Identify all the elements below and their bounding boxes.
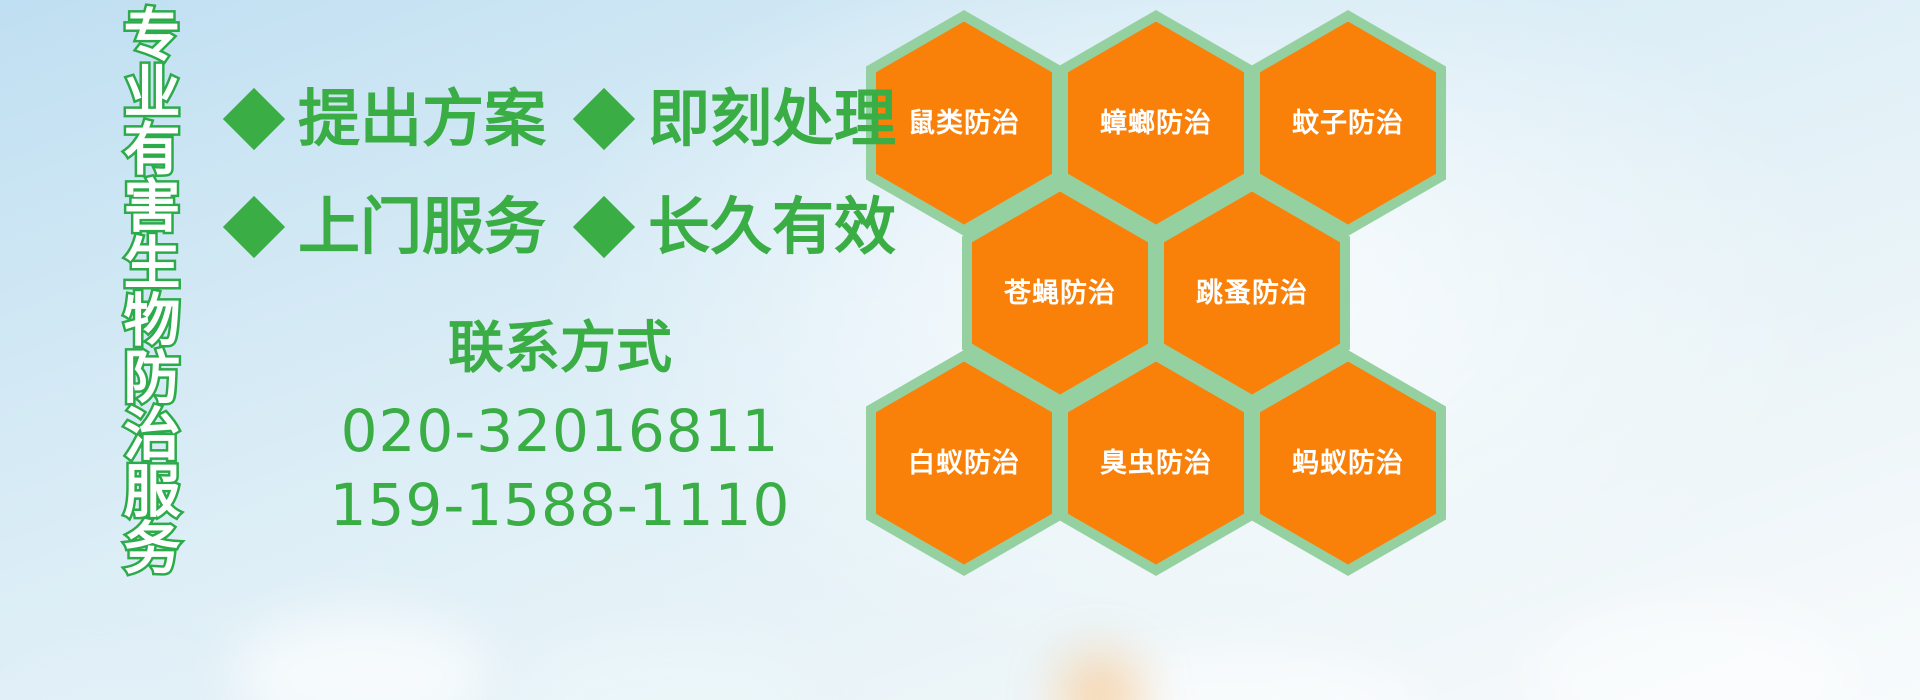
hexagon-inner: 白蚁防治 bbox=[876, 362, 1052, 565]
service-label: 蟑螂防治 bbox=[1100, 110, 1212, 137]
service-label: 臭虫防治 bbox=[1100, 450, 1212, 477]
vertical-headline-char: 防 bbox=[124, 350, 181, 407]
feature-label: 长久有效 bbox=[648, 196, 896, 258]
feature-item-long-lasting: 长久有效 bbox=[582, 196, 896, 258]
vertical-headline-char: 有 bbox=[124, 122, 181, 179]
service-label: 蚊子防治 bbox=[1292, 110, 1404, 137]
background-bokeh-blob bbox=[1530, 600, 1860, 700]
vertical-headline-char: 害 bbox=[124, 179, 181, 236]
feature-row-1: 提出方案 即刻处理 bbox=[232, 88, 896, 150]
background-bokeh-blob bbox=[1040, 648, 1420, 700]
diamond-icon bbox=[573, 196, 635, 258]
service-label: 蚂蚁防治 bbox=[1292, 450, 1404, 477]
service-label: 白蚁防治 bbox=[908, 450, 1020, 477]
feature-item-propose-plan: 提出方案 bbox=[232, 88, 546, 150]
feature-label: 提出方案 bbox=[298, 88, 546, 150]
diamond-icon bbox=[573, 88, 635, 150]
diamond-icon bbox=[223, 88, 285, 150]
vertical-headline-char: 物 bbox=[124, 293, 181, 350]
background-bokeh-blob bbox=[520, 640, 820, 700]
vertical-headline: 专 业 有 害 生 物 防 治 服 务 bbox=[108, 8, 196, 560]
vertical-headline-char: 业 bbox=[124, 65, 181, 122]
feature-item-immediate-handling: 即刻处理 bbox=[582, 88, 896, 150]
background-bokeh-blob bbox=[230, 612, 490, 700]
vertical-headline-char: 治 bbox=[124, 407, 181, 464]
diamond-icon bbox=[223, 196, 285, 258]
hexagon-inner: 蟑螂防治 bbox=[1068, 22, 1244, 225]
hexagon-inner: 鼠类防治 bbox=[876, 22, 1052, 225]
service-label: 苍蝇防治 bbox=[1004, 280, 1116, 307]
hexagon-inner: 臭虫防治 bbox=[1068, 362, 1244, 565]
background-bokeh-blob bbox=[0, 660, 220, 700]
feature-item-onsite-service: 上门服务 bbox=[232, 196, 546, 258]
feature-row-2: 上门服务 长久有效 bbox=[232, 196, 896, 258]
service-hexagon-grid: 鼠类防治 蟑螂防治 蚊子防治 苍蝇防治 跳蚤防治 白蚁防治 bbox=[860, 0, 1460, 560]
hexagon-inner: 蚂蚁防治 bbox=[1260, 362, 1436, 565]
vertical-headline-char: 务 bbox=[124, 521, 181, 578]
contact-phone-landline[interactable]: 020-32016811 bbox=[300, 394, 820, 468]
vertical-headline-char: 专 bbox=[124, 8, 181, 65]
pest-control-banner: 专 业 有 害 生 物 防 治 服 务 提出方案 即刻处理 上门服务 长久有效 bbox=[0, 0, 1920, 700]
feature-label: 即刻处理 bbox=[648, 88, 896, 150]
hexagon-inner: 蚊子防治 bbox=[1260, 22, 1436, 225]
service-label: 鼠类防治 bbox=[908, 110, 1020, 137]
contact-block: 联系方式 020-32016811 159-1588-1110 bbox=[300, 318, 820, 542]
contact-phone-mobile[interactable]: 159-1588-1110 bbox=[300, 468, 820, 542]
vertical-headline-char: 服 bbox=[124, 464, 181, 521]
contact-heading: 联系方式 bbox=[300, 318, 820, 380]
hexagon-inner: 苍蝇防治 bbox=[972, 192, 1148, 395]
feature-label: 上门服务 bbox=[298, 196, 546, 258]
service-label: 跳蚤防治 bbox=[1196, 280, 1308, 307]
background-bokeh-blob-orange bbox=[1060, 655, 1140, 700]
hexagon-inner: 跳蚤防治 bbox=[1164, 192, 1340, 395]
vertical-headline-char: 生 bbox=[124, 236, 181, 293]
